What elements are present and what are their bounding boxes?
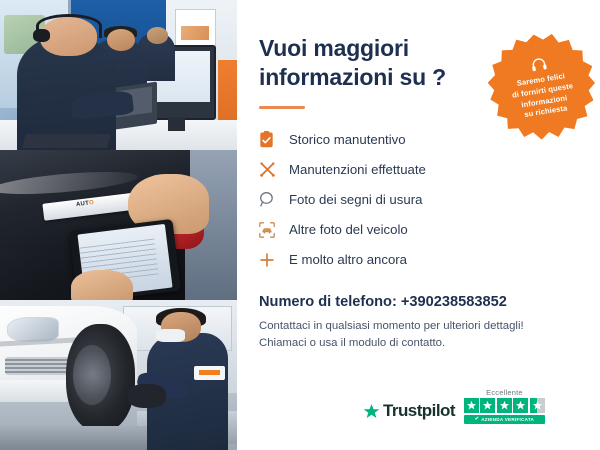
photo1-monitor-stand (168, 117, 185, 131)
star-tile-5-half (530, 398, 545, 413)
on-request-badge: Saremo felici di fornirti queste informa… (481, 26, 600, 147)
page-title-line-2: informazioni su ? (259, 64, 446, 90)
trustpilot-stars (464, 398, 545, 413)
photo1-headset-earcup (33, 29, 50, 43)
trustpilot-rating-label: Eccellente (464, 388, 545, 397)
clipboard-check-icon (259, 131, 283, 148)
contact-info-card: AUTO Vu (0, 0, 600, 450)
photo3-car-lift (0, 426, 147, 450)
page-title: Vuoi maggiori informazioni su ? (259, 34, 474, 92)
photo1-keyboard (22, 134, 111, 148)
plus-icon (259, 252, 283, 268)
car-scan-icon (259, 222, 283, 238)
trustpilot-wordmark: Trustpilot (383, 401, 455, 421)
feature-label: Altre foto del veicolo (283, 222, 408, 237)
trustpilot-rating-block: Eccellente (464, 388, 545, 424)
page-title-line-1: Vuoi maggiori (259, 35, 409, 61)
photo1-head-middle (107, 29, 135, 52)
contact-note-line-2: Chiamaci o usa il modulo di contatto. (259, 335, 578, 352)
photo3-mechanic-glove (128, 384, 166, 408)
photo3-face-mask (156, 329, 184, 343)
feature-item-more-photos[interactable]: Altre foto del veicolo (259, 215, 578, 245)
title-divider (259, 106, 305, 109)
star-tile-4 (513, 398, 528, 413)
phone-line[interactable]: Numero di telefono: +390238583852 (259, 294, 578, 310)
feature-item-maintenance-done[interactable]: Manutenzioni effettuate (259, 155, 578, 185)
wrench-screwdriver-icon (259, 161, 283, 178)
contact-note: Contattaci in qualsiasi momento per ulte… (259, 318, 578, 353)
contact-note-line-1: Contattaci in qualsiasi momento per ulte… (259, 318, 578, 335)
feature-item-wear-photos[interactable]: Foto dei segni di usura (259, 185, 578, 215)
photo1-head-back (147, 27, 168, 44)
star-tile-1 (464, 398, 479, 413)
photo-column: AUTO (0, 0, 237, 450)
feature-label: Foto dei segni di usura (283, 192, 422, 207)
verified-company-badge: ✔ AZIENDA VERIFICATA (464, 415, 545, 424)
feature-label: Storico manutentivo (283, 132, 406, 147)
verified-company-label: AZIENDA VERIFICATA (481, 417, 534, 422)
paint-gauge-inspection-photo: AUTO (0, 150, 237, 300)
headset-icon (529, 55, 548, 74)
phone-number[interactable]: +390238583852 (401, 294, 507, 310)
trustpilot-brand[interactable]: Trustpilot (363, 401, 455, 424)
badge-content: Saremo felici di fornirti queste informa… (495, 50, 589, 125)
phone-label: Numero di telefono: (259, 294, 397, 310)
check-icon: ✔ (475, 416, 479, 422)
star-tile-2 (480, 398, 495, 413)
photo3-grille (5, 357, 76, 375)
feature-label: Manutenzioni effettuate (283, 162, 426, 177)
photo3-uniform-logo (194, 366, 225, 380)
feature-list: Storico manutentivo Manutenzioni effettu… (259, 125, 578, 275)
trustpilot-star-icon (363, 403, 380, 420)
photo2-hand-lower (71, 270, 133, 300)
feature-item-much-more[interactable]: E molto altro ancora (259, 245, 578, 275)
feature-label: E molto altro ancora (283, 252, 407, 267)
wheel-inspection-photo (0, 300, 237, 450)
content-panel: Vuoi maggiori informazioni su ? Saremo f… (237, 0, 600, 450)
star-tile-3 (497, 398, 512, 413)
trustpilot-widget[interactable]: Trustpilot Eccellente (363, 388, 545, 424)
magnifier-icon (259, 191, 283, 208)
photo1-wall-poster (175, 9, 215, 48)
call-center-operators-photo (0, 0, 237, 150)
